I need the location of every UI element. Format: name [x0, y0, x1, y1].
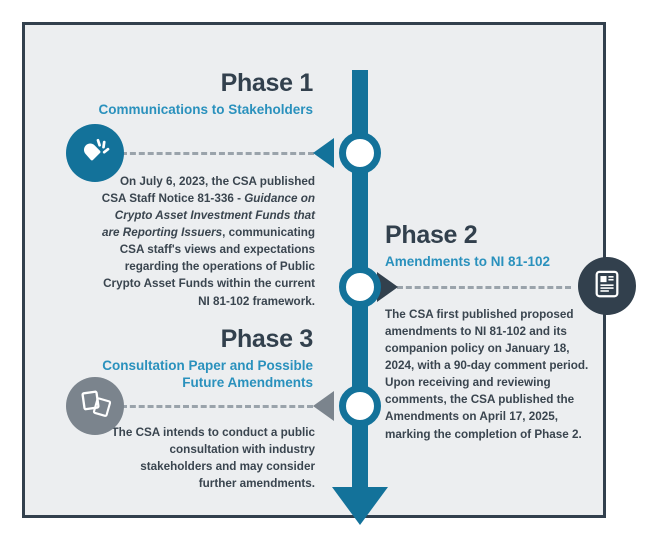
timeline-arrowhead-icon [332, 487, 388, 525]
connector-dashed-line-phase1 [121, 152, 314, 155]
phase1-heading-block: Phase 1 Communications to Stakeholders [85, 69, 313, 118]
phase2-icon-badge [578, 257, 636, 315]
phase1-icon-badge [66, 124, 124, 182]
phase3-body-block: The CSA intends to conduct a public cons… [101, 424, 315, 492]
phase2-body-block: The CSA first published proposed amendme… [385, 306, 590, 443]
connector-arrow-phase1 [313, 138, 334, 168]
connector-dashed-line-phase3 [121, 405, 313, 408]
phase2-subtitle: Amendments to NI 81-102 [385, 253, 600, 270]
phase2-title: Phase 2 [385, 221, 600, 249]
timeline-node-phase2 [339, 266, 381, 308]
phase3-title: Phase 3 [95, 325, 313, 353]
connector-dashed-line-phase2 [397, 286, 571, 289]
phase3-subtitle: Consultation Paper and Possible Future A… [95, 357, 313, 391]
timeline-node-phase3 [339, 385, 381, 427]
document-icon [592, 269, 622, 304]
timeline-node-phase1 [339, 132, 381, 174]
connector-arrow-phase3 [313, 391, 334, 421]
phase1-body-block: On July 6, 2023, the CSA published CSA S… [101, 173, 315, 310]
papers-icon [80, 388, 111, 424]
phase1-body-text: On July 6, 2023, the CSA published CSA S… [101, 173, 315, 310]
phase3-icon-badge [66, 377, 124, 435]
phase3-body-text: The CSA intends to conduct a public cons… [101, 424, 315, 492]
phase2-heading-block: Phase 2 Amendments to NI 81-102 [385, 221, 600, 270]
phase2-body-text: The CSA first published proposed amendme… [385, 306, 590, 443]
timeline-infographic: Phase 1 Communications to Stakeholders O… [22, 22, 606, 518]
megaphone-icon [80, 136, 110, 171]
phase1-subtitle: Communications to Stakeholders [85, 101, 313, 118]
phase1-title: Phase 1 [85, 69, 313, 97]
phase3-heading-block: Phase 3 Consultation Paper and Possible … [95, 325, 313, 391]
